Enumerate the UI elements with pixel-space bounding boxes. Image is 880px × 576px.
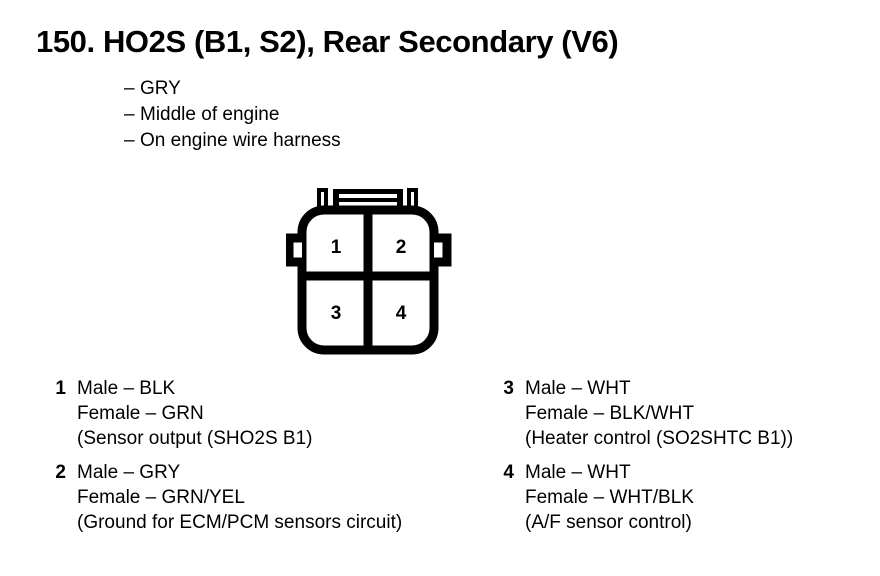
pin-3-circuit-description: (Heater control (SO2SHTC B1)) bbox=[525, 426, 793, 451]
pin-number-4: 4 bbox=[500, 460, 514, 485]
connector-top-post-left-slot bbox=[321, 192, 324, 206]
connector-attribute-list: –GRY –Middle of engine –On engine wire h… bbox=[124, 76, 341, 154]
bullet-dash-icon: – bbox=[124, 102, 140, 128]
attribute-label: On engine wire harness bbox=[140, 130, 341, 151]
attribute-item-location: –Middle of engine bbox=[124, 102, 341, 128]
pin-4-circuit-description: (A/F sensor control) bbox=[525, 510, 793, 535]
pin-entry-4: 4 Male – WHT Female – WHT/BLK (A/F senso… bbox=[500, 460, 793, 535]
pin-1-circuit-description: (Sensor output (SHO2S B1) bbox=[77, 426, 402, 451]
pin-1-female-wire: Female – GRN bbox=[77, 401, 402, 426]
pin-3-male-wire: Male – WHT bbox=[525, 376, 793, 401]
connector-side-tab-right bbox=[434, 238, 447, 262]
attribute-item-harness: –On engine wire harness bbox=[124, 128, 341, 154]
pin-entry-1: 1 Male – BLK Female – GRN (Sensor output… bbox=[52, 376, 402, 451]
connector-housing-outline bbox=[289, 188, 447, 350]
connector-latch-slot-lower bbox=[339, 202, 397, 206]
pin-1-male-wire: Male – BLK bbox=[77, 376, 402, 401]
pin-4-female-wire: Female – WHT/BLK bbox=[525, 485, 793, 510]
connector-side-tab-left bbox=[289, 238, 302, 262]
pin-entry-2: 2 Male – GRY Female – GRN/YEL (Ground fo… bbox=[52, 460, 402, 535]
attribute-item-wire-color: –GRY bbox=[124, 76, 341, 102]
bullet-dash-icon: – bbox=[124, 128, 140, 154]
bullet-dash-icon: – bbox=[124, 76, 140, 102]
connector-cavity-1-label: 1 bbox=[331, 237, 342, 258]
connector-top-post-right-slot bbox=[411, 192, 414, 206]
pin-number-1: 1 bbox=[52, 376, 66, 401]
attribute-label: Middle of engine bbox=[140, 104, 279, 125]
page-title: 150. HO2S (B1, S2), Rear Secondary (V6) bbox=[36, 26, 618, 57]
connector-cavity-2-label: 2 bbox=[396, 237, 407, 258]
connector-diagram: 1 2 3 4 bbox=[286, 186, 466, 358]
pin-number-2: 2 bbox=[52, 460, 66, 485]
attribute-label: GRY bbox=[140, 78, 181, 99]
pin-legend-right-column: 3 Male – WHT Female – BLK/WHT (Heater co… bbox=[500, 376, 793, 544]
pin-2-circuit-description: (Ground for ECM/PCM sensors circuit) bbox=[77, 510, 402, 535]
pin-legend-left-column: 1 Male – BLK Female – GRN (Sensor output… bbox=[52, 376, 402, 544]
pin-number-3: 3 bbox=[500, 376, 514, 401]
connector-cavity-3-label: 3 bbox=[331, 303, 342, 324]
pin-2-female-wire: Female – GRN/YEL bbox=[77, 485, 402, 510]
pin-2-male-wire: Male – GRY bbox=[77, 460, 402, 485]
connector-latch-slot-upper bbox=[339, 194, 397, 198]
pin-3-female-wire: Female – BLK/WHT bbox=[525, 401, 793, 426]
connector-cavity-4-label: 4 bbox=[396, 303, 407, 324]
pin-4-male-wire: Male – WHT bbox=[525, 460, 793, 485]
pin-entry-3: 3 Male – WHT Female – BLK/WHT (Heater co… bbox=[500, 376, 793, 451]
